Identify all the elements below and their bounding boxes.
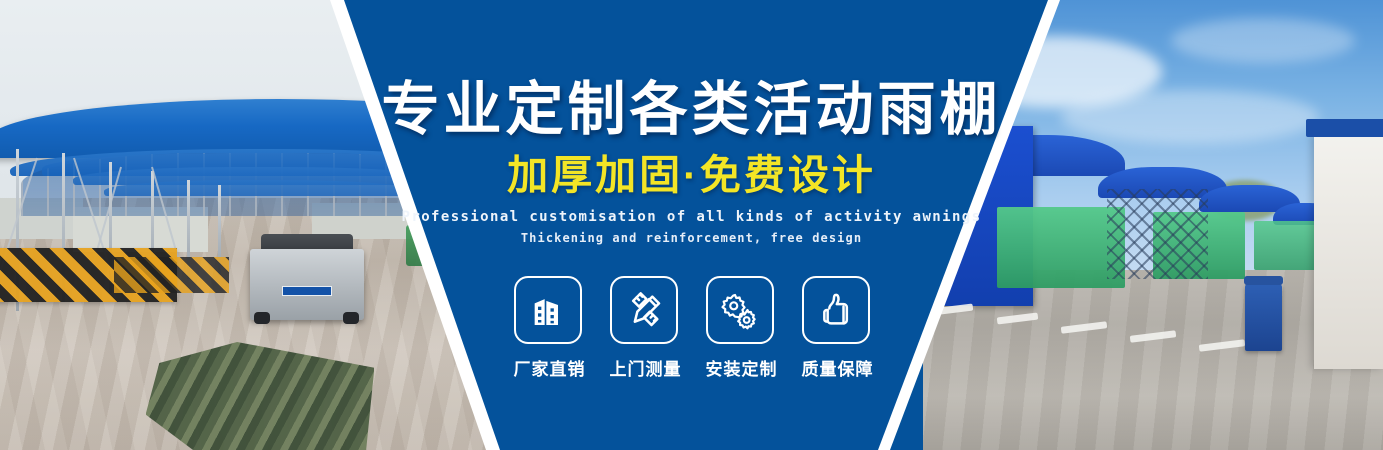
- feature-list: 厂家直销 上门测量: [0, 276, 1383, 380]
- gears-icon: [720, 290, 760, 330]
- cloud: [1171, 18, 1355, 63]
- cloud: [1061, 90, 1319, 144]
- feature-icon-box[interactable]: [514, 276, 582, 344]
- feature-item-quality-guarantee[interactable]: 质量保障: [802, 276, 870, 380]
- feature-label: 质量保障: [802, 355, 870, 380]
- feature-label: 厂家直销: [514, 355, 582, 380]
- thumbs-up-icon: [816, 290, 856, 330]
- building-icon: [528, 290, 568, 330]
- feature-label: 上门测量: [610, 355, 678, 380]
- feature-item-factory-direct[interactable]: 厂家直销: [514, 276, 582, 380]
- feature-item-installation-custom[interactable]: 安装定制: [706, 276, 774, 380]
- scissor-frame: [1107, 189, 1208, 279]
- feature-icon-box[interactable]: [610, 276, 678, 344]
- feature-icon-box[interactable]: [802, 276, 870, 344]
- ruler-pencil-icon: [624, 290, 664, 330]
- feature-item-on-site-measurement[interactable]: 上门测量: [610, 276, 678, 380]
- feature-label: 安装定制: [706, 355, 774, 380]
- promo-banner: 专业定制各类活动雨棚 加厚加固·免费设计 Professional custom…: [0, 0, 1383, 450]
- feature-icon-box[interactable]: [706, 276, 774, 344]
